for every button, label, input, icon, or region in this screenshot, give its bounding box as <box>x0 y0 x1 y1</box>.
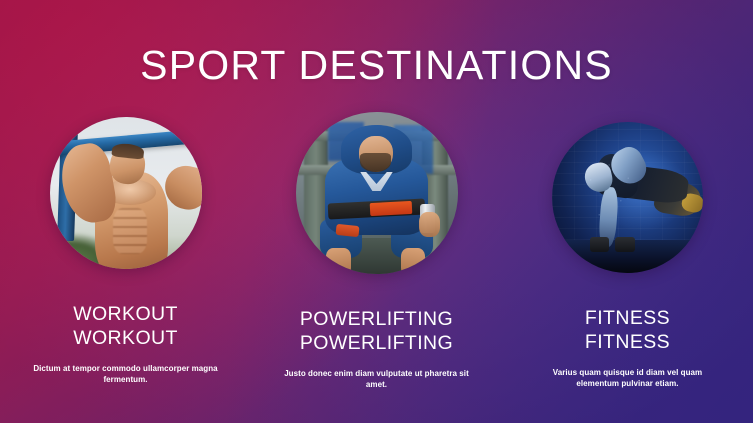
content-columns: WORKOUT WORKOUT Dictum at tempor commodo… <box>0 110 753 410</box>
column-body-text: Justo donec enim diam vulputate ut phare… <box>284 368 470 391</box>
dumbbell-left <box>590 237 610 252</box>
powerlifter-hoodie-photo <box>296 112 458 274</box>
column-body-text: Dictum at tempor commodo ullamcorper mag… <box>33 363 219 386</box>
column-heading: WORKOUT WORKOUT <box>73 303 178 351</box>
column-fitness: FITNESS FITNESS Varius quam quisque id d… <box>502 110 753 390</box>
photo-artwork <box>296 112 458 274</box>
dumbbell-right <box>615 237 635 252</box>
leg-left <box>326 248 350 274</box>
photo-artwork <box>50 117 202 269</box>
lifter-hand <box>419 212 440 236</box>
photo-artwork <box>552 122 703 273</box>
slide-title: SPORT DESTINATIONS <box>0 44 753 87</box>
pull-up-athlete-photo <box>50 117 202 269</box>
leg-right <box>401 248 425 274</box>
column-powerlifting: POWERLIFTING POWERLIFTING Justo donec en… <box>251 110 502 391</box>
water-spray-particles <box>579 155 636 238</box>
column-workout: WORKOUT WORKOUT Dictum at tempor commodo… <box>0 110 251 386</box>
column-heading: FITNESS FITNESS <box>585 307 670 355</box>
belt-logo-patch <box>370 201 413 216</box>
column-body-text: Varius quam quisque id diam vel quam ele… <box>535 367 721 390</box>
plank-dumbbell-photo <box>552 122 703 273</box>
lifter-beard <box>360 153 391 172</box>
presentation-slide: SPORT DESTINATIONS WORKOUT <box>0 0 753 423</box>
column-heading: POWERLIFTING POWERLIFTING <box>300 308 453 356</box>
athlete-abs <box>113 208 146 254</box>
